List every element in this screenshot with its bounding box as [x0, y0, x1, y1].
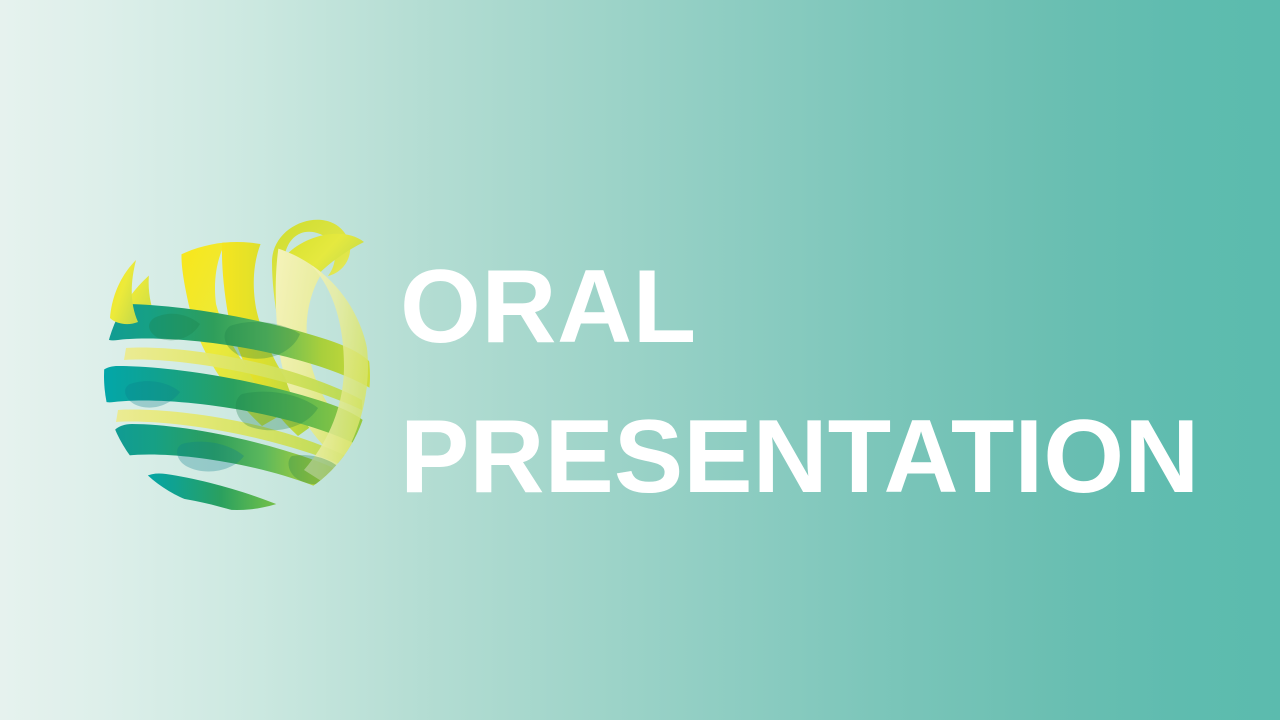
logo-band-8: [138, 473, 304, 532]
page-title-line-2: PRESENTATION: [400, 382, 1220, 532]
page-title-line-1: ORAL: [400, 232, 1220, 382]
logo-ribbon-bands: [96, 219, 370, 532]
slide-title-block: ORAL PRESENTATION: [400, 232, 1220, 532]
slide-canvas: ORAL PRESENTATION: [0, 0, 1280, 720]
globe-ribbon-logo: [96, 198, 380, 518]
